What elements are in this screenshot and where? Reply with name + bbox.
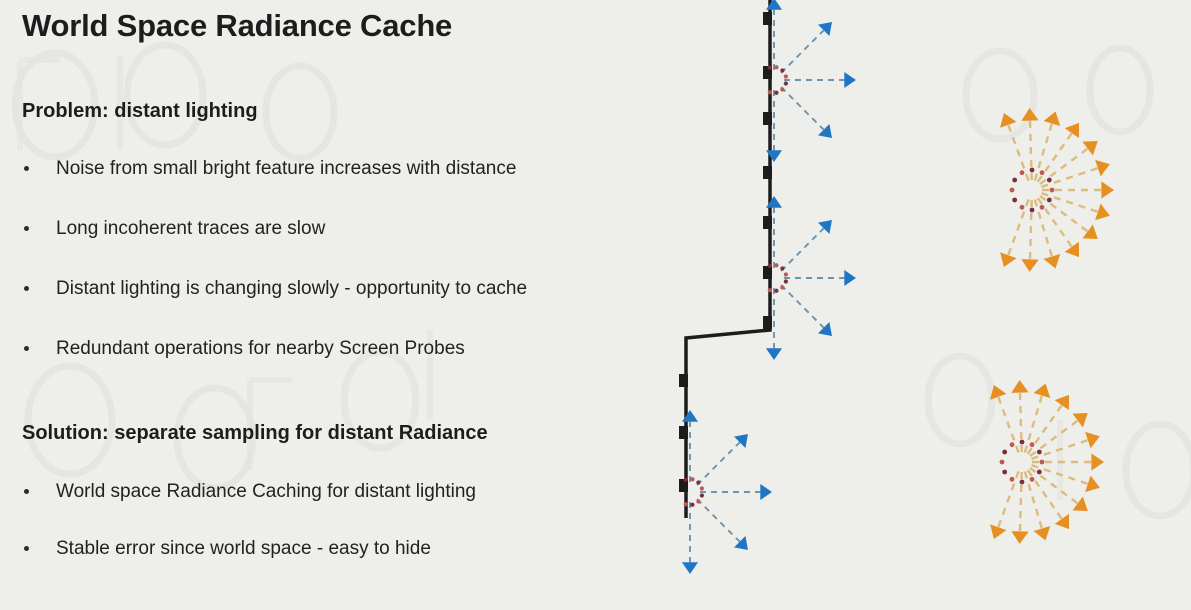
arrow-shaft — [697, 499, 740, 542]
probe-sample-dot — [1030, 208, 1035, 213]
screen-probe-marker — [763, 166, 772, 179]
probe-sample-dot — [1037, 470, 1042, 475]
probe-sample-dot — [774, 91, 778, 95]
probe-sample-dot — [696, 480, 700, 484]
probe-sample-dot — [780, 68, 784, 72]
arrow-head-icon — [1021, 259, 1038, 272]
arrow-head-icon — [1055, 395, 1069, 410]
arrow-head-icon — [1091, 453, 1104, 470]
arrow-head-icon — [1082, 141, 1097, 155]
arrow-head-icon — [1072, 413, 1087, 427]
list-item: Redundant operations for nearby Screen P… — [22, 338, 527, 360]
arrow-head-icon — [1082, 224, 1097, 238]
arrow-shaft — [1031, 465, 1087, 484]
list-item-label: Noise from small bright feature increase… — [56, 158, 516, 179]
bullet-dot-icon — [24, 226, 29, 231]
arrow-head-icon — [1044, 111, 1061, 126]
probe-sample-dot — [1030, 168, 1035, 173]
probe-sample-dot — [1010, 188, 1015, 193]
probe-sample-dot — [1002, 450, 1007, 455]
probe-sample-dot — [1010, 477, 1015, 482]
list-item: World space Radiance Caching for distant… — [22, 481, 476, 503]
probe-sample-dot — [784, 272, 788, 276]
probe-sample-dot — [780, 285, 784, 289]
probe-sample-dot — [784, 74, 788, 78]
slide-content: World Space Radiance Cache Problem: dist… — [0, 0, 1191, 610]
solution-bullet-list: World space Radiance Caching for distant… — [22, 481, 476, 595]
probe-sample-dot — [1012, 198, 1017, 203]
arrow-head-icon — [1021, 108, 1038, 121]
probe-sample-dot — [1000, 460, 1005, 465]
arrow-shaft — [781, 30, 824, 73]
list-item-label: Stable error since world space - easy to… — [56, 538, 431, 559]
probe-sample-dot — [684, 478, 688, 482]
list-item: Long incoherent traces are slow — [22, 218, 527, 240]
probe-sample-dot — [1040, 460, 1045, 465]
arrow-head-icon — [760, 484, 772, 500]
probe-sample-dot — [684, 502, 688, 506]
arrow-shaft — [1041, 168, 1097, 187]
list-item-label: Long incoherent traces are slow — [56, 218, 325, 239]
probe-sample-dot — [774, 65, 778, 69]
arrow-shaft — [781, 87, 824, 130]
screen-probe-marker — [763, 12, 772, 25]
bullet-dot-icon — [24, 546, 29, 551]
arrow-shaft — [998, 471, 1018, 527]
world-radiance-cache-group — [990, 108, 1114, 544]
probe-sample-dot — [1050, 188, 1055, 193]
screen-probe-marker — [679, 426, 688, 439]
probe-sample-dot — [696, 499, 700, 503]
list-item-label: Redundant operations for nearby Screen P… — [56, 338, 465, 359]
list-item: Noise from small bright feature increase… — [22, 158, 527, 180]
bullet-dot-icon — [24, 346, 29, 351]
text-column: World Space Radiance Cache Problem: dist… — [0, 0, 680, 610]
screen-probe-marker — [679, 374, 688, 387]
arrow-head-icon — [1065, 123, 1079, 138]
page-title: World Space Radiance Cache — [22, 8, 452, 44]
arrow-head-icon — [682, 562, 698, 574]
probe-sample-dot — [700, 486, 704, 490]
probe-sample-dot — [700, 493, 704, 497]
screen-probe-marker — [763, 266, 772, 279]
section-heading-problem: Problem: distant lighting — [22, 100, 258, 123]
probe-sample-dot — [1010, 442, 1015, 447]
probe-sample-dot — [784, 279, 788, 283]
probe-sample-dot — [768, 264, 772, 268]
probe-sample-dot — [1020, 480, 1025, 485]
arrow-head-icon — [1101, 181, 1114, 198]
probe-sample-dot — [1020, 205, 1025, 210]
probe-sample-dot — [1002, 470, 1007, 475]
probe-sample-dot — [1047, 198, 1052, 203]
probe-sample-dot — [774, 263, 778, 267]
arrow-shaft — [1008, 199, 1028, 255]
arrow-head-icon — [844, 72, 856, 88]
bullet-dot-icon — [24, 286, 29, 291]
arrow-shaft — [697, 442, 740, 485]
list-item: Distant lighting is changing slowly - op… — [22, 278, 527, 300]
arrow-head-icon — [1011, 380, 1028, 393]
probe-sample-dot — [690, 503, 694, 507]
problem-bullet-list: Noise from small bright feature increase… — [22, 158, 527, 398]
probe-sample-dot — [768, 288, 772, 292]
screen-probe-marker — [763, 316, 772, 329]
arrow-head-icon — [1034, 526, 1051, 541]
wall-geometry — [686, 0, 770, 518]
probe-sample-dot — [1037, 450, 1042, 455]
probe-sample-dot — [774, 289, 778, 293]
arrow-shaft — [781, 228, 824, 271]
list-item-label: World space Radiance Caching for distant… — [56, 481, 476, 502]
list-item-label: Distant lighting is changing slowly - op… — [56, 278, 527, 299]
screen-radiance-cache-group — [679, 0, 856, 574]
probe-sample-dot — [780, 266, 784, 270]
probe-sample-dot — [1047, 178, 1052, 183]
arrow-head-icon — [1065, 242, 1079, 257]
bullet-dot-icon — [24, 166, 29, 171]
list-item: Stable error since world space - easy to… — [22, 538, 476, 560]
probe-sample-dot — [768, 90, 772, 94]
probe-sample-dot — [780, 87, 784, 91]
arrow-shaft — [1031, 440, 1087, 459]
slide-canvas: World Space Radiance Cache Problem: dist… — [0, 0, 1191, 610]
arrow-head-icon — [1011, 531, 1028, 544]
probe-sample-dot — [1030, 442, 1035, 447]
arrow-shaft — [1041, 193, 1097, 212]
probe-sample-dot — [1040, 170, 1045, 175]
arrow-head-icon — [1072, 496, 1087, 510]
arrow-head-icon — [844, 270, 856, 286]
probe-sample-dot — [1012, 178, 1017, 183]
arrow-shaft — [1008, 125, 1028, 181]
probe-sample-dot — [1030, 477, 1035, 482]
section-heading-solution: Solution: separate sampling for distant … — [22, 422, 488, 445]
radiance-cache-diagram — [640, 0, 1191, 610]
probe-sample-dot — [1020, 440, 1025, 445]
arrow-shaft — [781, 285, 824, 328]
probe-sample-dot — [690, 477, 694, 481]
screen-probe-marker — [763, 216, 772, 229]
probe-sample-dot — [1040, 205, 1045, 210]
probe-sample-dot — [1020, 170, 1025, 175]
arrow-shaft — [998, 397, 1018, 453]
probe-sample-dot — [784, 81, 788, 85]
probe-sample-dot — [768, 66, 772, 70]
bullet-dot-icon — [24, 489, 29, 494]
arrow-head-icon — [1055, 514, 1069, 529]
arrow-head-icon — [1034, 383, 1051, 398]
arrow-head-icon — [1044, 254, 1061, 269]
diagram-area: Screen Radiance Cache World Radiance Cac… — [640, 0, 1191, 610]
arrow-head-icon — [766, 348, 782, 360]
screen-probe-marker — [763, 112, 772, 125]
